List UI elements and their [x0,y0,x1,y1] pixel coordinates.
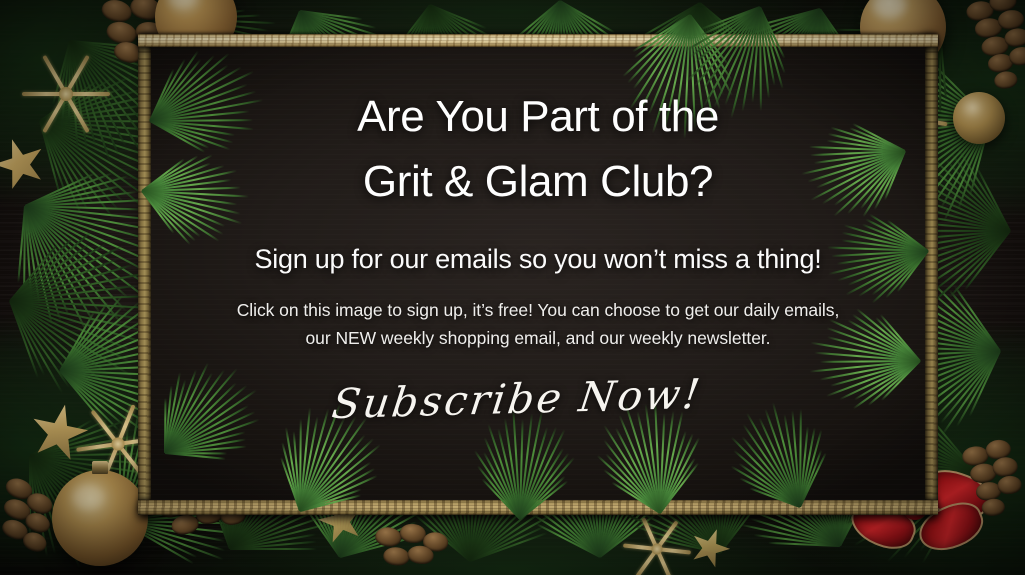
vignette-overlay [0,0,1025,575]
christmas-email-signup-banner[interactable]: Are You Part of the Grit & Glam Club? Si… [0,0,1025,575]
